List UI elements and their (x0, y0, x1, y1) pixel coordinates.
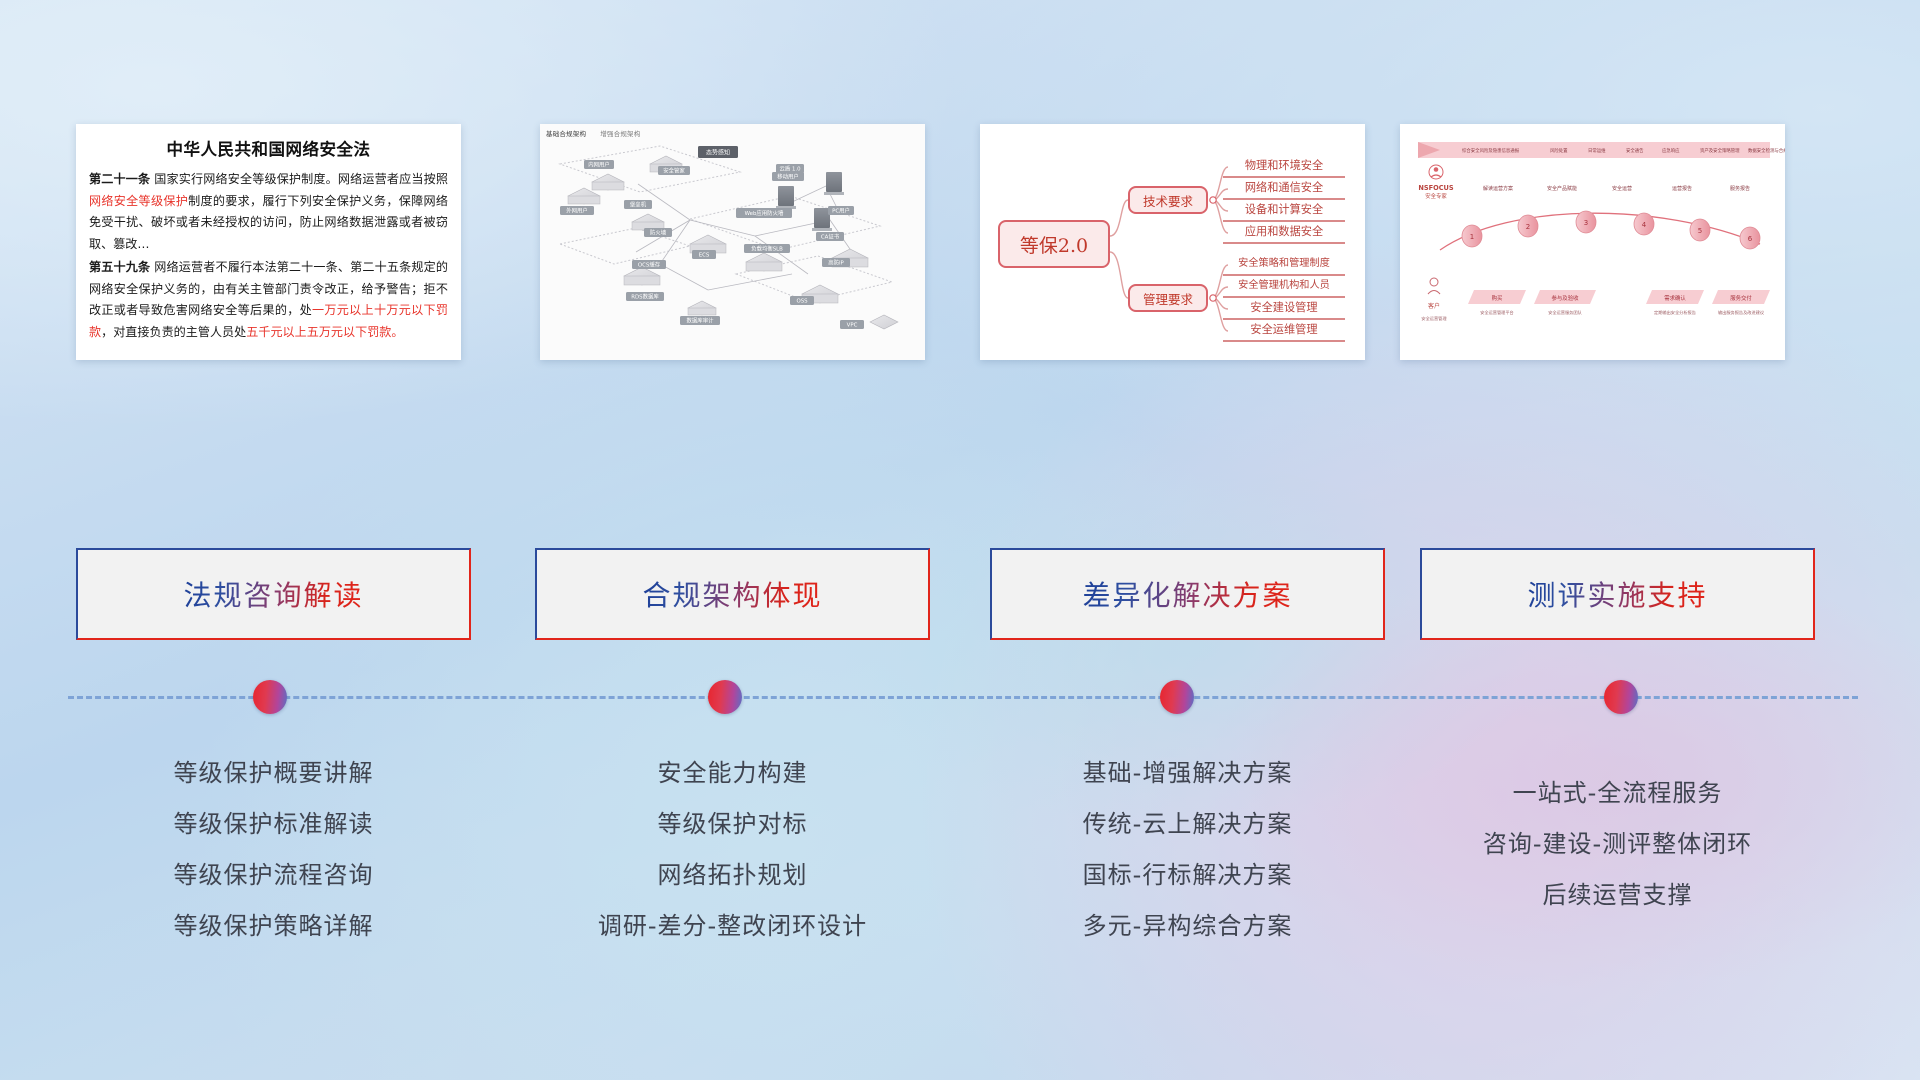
pillar-list-4: 一站式-全流程服务 咨询-建设-测评整体闭环 后续运营支撑 (1420, 768, 1815, 921)
mindmap-leaf[interactable]: 安全管理机构和人员 (1223, 276, 1345, 298)
mindmap-leaf[interactable]: 安全策略和管理制度 (1223, 254, 1345, 276)
list-item: 等级保护对标 (535, 799, 930, 850)
timeline-dot-2[interactable] (708, 680, 742, 714)
list-item: 网络拓扑规划 (535, 850, 930, 901)
svg-text:OCS缓存: OCS缓存 (638, 261, 661, 269)
svg-text:安全运营: 安全运营 (1612, 185, 1632, 192)
svg-text:5: 5 (1698, 227, 1702, 235)
law-title: 中华人民共和国网络安全法 (89, 136, 448, 160)
svg-text:高防IP: 高防IP (828, 259, 844, 267)
pillar-titles-row: 法规咨询解读 合规架构体现 差异化解决方案 测评实施支持 (0, 548, 1920, 640)
svg-text:输出服务报告及改进建议: 输出服务报告及改进建议 (1718, 309, 1765, 316)
law-article-21: 第二十一条 国家实行网络安全等级保护制度。网络运营者应当按照网络安全等级保护制度… (89, 169, 448, 255)
pillar-title-label: 测评实施支持 (1527, 574, 1707, 614)
list-item: 等级保护策略详解 (76, 901, 471, 952)
svg-text:NSFOCUS: NSFOCUS (1418, 184, 1454, 192)
pillar-title-label: 差异化解决方案 (1082, 574, 1292, 614)
law-text-block: 中华人民共和国网络安全法 第二十一条 国家实行网络安全等级保护制度。网络运营者应… (76, 124, 461, 343)
svg-text:安全运营管理平台: 安全运营管理平台 (1480, 309, 1514, 316)
mindmap-diagram: 等保2.0 技术要求 管理要求 物理和环境安全 网络和通信安全 设备和计算安全 … (980, 124, 1365, 360)
pillar-title-box-2[interactable]: 合规架构体现 (535, 548, 930, 640)
svg-text:4: 4 (1642, 221, 1647, 229)
list-item: 多元-异构综合方案 (990, 901, 1385, 952)
roadmap-svg: 综合安全风险及隐患信息通报 风险处置 日常运维 安全通告 应急响应 资产及安全策… (1400, 124, 1785, 360)
svg-text:客户: 客户 (1428, 302, 1440, 310)
svg-text:安全通告: 安全通告 (1626, 147, 1644, 154)
article-21-highlight: 网络安全等级保护 (89, 194, 188, 208)
article-21-text-a: 国家实行网络安全等级保护制度。网络运营者应当按照 (150, 172, 448, 186)
list-item: 基础-增强解决方案 (990, 748, 1385, 799)
svg-text:移动用户: 移动用户 (777, 173, 799, 181)
list-item: 传统-云上解决方案 (990, 799, 1385, 850)
illustration-cards-row: 中华人民共和国网络安全法 第二十一条 国家实行网络安全等级保护制度。网络运营者应… (0, 124, 1920, 360)
svg-text:RDS数据库: RDS数据库 (631, 293, 659, 301)
timeline-dot-1[interactable] (253, 680, 287, 714)
pillar-title-label: 合规架构体现 (642, 574, 822, 614)
architecture-svg: 内网用户 外网用户 堡垒机 防火墙 OCS缓存 RDS数据库 数据库审计 ECS… (540, 124, 925, 360)
mindmap-leaf[interactable]: 应用和数据安全 (1223, 222, 1345, 244)
mindmap-leaf[interactable]: 安全建设管理 (1223, 298, 1345, 320)
svg-text:服务报告: 服务报告 (1730, 185, 1750, 192)
pillar-title-label: 法规咨询解读 (183, 574, 363, 614)
svg-text:云盾 1.0: 云盾 1.0 (779, 166, 801, 173)
svg-text:参与及验收: 参与及验收 (1552, 294, 1580, 302)
list-item: 调研-差分-整改闭环设计 (535, 901, 930, 952)
pillar-title-box-3[interactable]: 差异化解决方案 (990, 548, 1385, 640)
list-item: 等级保护标准解读 (76, 799, 471, 850)
article-21-label: 第二十一条 (89, 172, 150, 186)
timeline-dashed-line (68, 696, 1858, 699)
timeline-dot-3[interactable] (1160, 680, 1194, 714)
pillar-list-2: 安全能力构建 等级保护对标 网络拓扑规划 调研-差分-整改闭环设计 (535, 748, 930, 952)
svg-text:负载均衡SLB: 负载均衡SLB (751, 245, 783, 253)
article-59-text-b: ，对直接负责的主管人员处 (101, 325, 246, 339)
svg-text:服务交付: 服务交付 (1730, 294, 1752, 302)
architecture-diagram: 基础合规架构 增强合规架构 (540, 124, 925, 360)
svg-text:PC用户: PC用户 (832, 207, 850, 215)
mindmap-leaf[interactable]: 网络和通信安全 (1223, 178, 1345, 200)
svg-text:应急响应: 应急响应 (1662, 147, 1680, 154)
svg-text:Web应用防火墙: Web应用防火墙 (745, 209, 784, 217)
pillar-title-box-4[interactable]: 测评实施支持 (1420, 548, 1815, 640)
svg-text:OSS: OSS (796, 299, 808, 305)
svg-text:日常运维: 日常运维 (1588, 147, 1606, 154)
svg-text:数据安全检测与合规性检查: 数据安全检测与合规性检查 (1748, 147, 1785, 154)
mindmap-branch-management[interactable]: 管理要求 (1128, 284, 1208, 312)
mindmap-leaf[interactable]: 安全运维管理 (1223, 320, 1345, 342)
svg-text:堡垒机: 堡垒机 (630, 201, 647, 209)
svg-text:解读运营方案: 解读运营方案 (1483, 185, 1513, 192)
card-nsfocus-roadmap[interactable]: 综合安全风险及隐患信息通报 风险处置 日常运维 安全通告 应急响应 资产及安全策… (1400, 124, 1785, 360)
svg-text:2: 2 (1526, 223, 1530, 231)
card-cloud-architecture[interactable]: 基础合规架构 增强合规架构 (540, 124, 925, 360)
svg-text:运营报告: 运营报告 (1672, 185, 1692, 192)
pillar-list-3: 基础-增强解决方案 传统-云上解决方案 国标-行标解决方案 多元-异构综合方案 (990, 748, 1385, 952)
card-cybersecurity-law[interactable]: 中华人民共和国网络安全法 第二十一条 国家实行网络安全等级保护制度。网络运营者应… (76, 124, 461, 360)
svg-text:防火墙: 防火墙 (650, 229, 667, 237)
svg-text:6: 6 (1748, 235, 1753, 243)
svg-text:内网用户: 内网用户 (588, 161, 610, 169)
svg-text:安全运营服务团队: 安全运营服务团队 (1548, 309, 1582, 316)
mindmap-leaf[interactable]: 设备和计算安全 (1223, 200, 1345, 222)
list-item: 等级保护概要讲解 (76, 748, 471, 799)
svg-text:风险处置: 风险处置 (1550, 147, 1568, 154)
article-59-label: 第五十九条 (89, 260, 150, 274)
svg-text:购买: 购买 (1492, 294, 1503, 302)
article-59-highlight-2: 五千元以上五万元以下罚款。 (246, 325, 403, 339)
svg-text:3: 3 (1584, 219, 1588, 227)
svg-text:外网用户: 外网用户 (566, 207, 588, 215)
svg-text:资产及安全策略管理: 资产及安全策略管理 (1700, 147, 1740, 154)
list-item: 咨询-建设-测评整体闭环 (1420, 819, 1815, 870)
svg-text:1: 1 (1470, 233, 1474, 241)
svg-text:安全产品赋能: 安全产品赋能 (1547, 185, 1577, 192)
pillar-title-box-1[interactable]: 法规咨询解读 (76, 548, 471, 640)
timeline-dot-4[interactable] (1604, 680, 1638, 714)
svg-text:安全运营管理: 安全运营管理 (1421, 315, 1447, 322)
list-item: 一站式-全流程服务 (1420, 768, 1815, 819)
list-item: 等级保护流程咨询 (76, 850, 471, 901)
mindmap-root-node[interactable]: 等保2.0 (998, 220, 1110, 268)
roadmap-diagram: 综合安全风险及隐患信息通报 风险处置 日常运维 安全通告 应急响应 资产及安全策… (1400, 124, 1785, 360)
svg-text:综合安全风险及隐患信息通报: 综合安全风险及隐患信息通报 (1462, 147, 1520, 154)
list-item: 安全能力构建 (535, 748, 930, 799)
svg-text:安全专家: 安全专家 (1425, 192, 1447, 200)
svg-text:CA证书: CA证书 (821, 233, 840, 241)
svg-text:态势感知: 态势感知 (706, 148, 730, 156)
card-mindmap-dengbao[interactable]: 等保2.0 技术要求 管理要求 物理和环境安全 网络和通信安全 设备和计算安全 … (980, 124, 1365, 360)
list-item: 后续运营支撑 (1420, 870, 1815, 921)
law-article-59: 第五十九条 网络运营者不履行本法第二十一条、第二十五条规定的网络安全保护义务的，… (89, 257, 448, 343)
svg-text:数据库审计: 数据库审计 (687, 317, 715, 325)
svg-text:安全管家: 安全管家 (663, 167, 685, 175)
mindmap-leaf[interactable]: 物理和环境安全 (1223, 156, 1345, 178)
timeline (0, 668, 1920, 728)
svg-text:VPC: VPC (847, 323, 858, 329)
pillar-list-1: 等级保护概要讲解 等级保护标准解读 等级保护流程咨询 等级保护策略详解 (76, 748, 471, 952)
svg-text:需求确认: 需求确认 (1664, 294, 1686, 302)
mindmap-branch-technical[interactable]: 技术要求 (1128, 186, 1208, 214)
svg-text:定期输出安全分析报告: 定期输出安全分析报告 (1654, 309, 1696, 316)
list-item: 国标-行标解决方案 (990, 850, 1385, 901)
svg-text:ECS: ECS (699, 253, 710, 259)
